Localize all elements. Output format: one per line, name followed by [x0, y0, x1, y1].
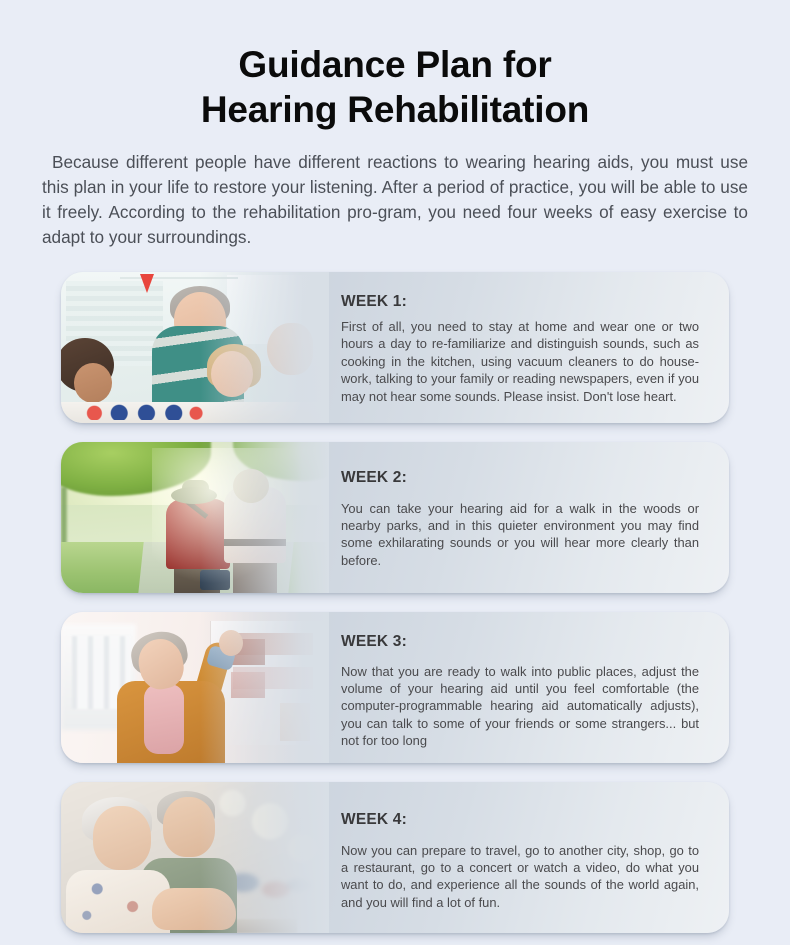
red-pennant-icon	[140, 274, 154, 293]
photo-illustration-park-walk	[61, 442, 329, 593]
photo-illustration-elderly-couple	[61, 782, 329, 933]
week-2-text: You can take your hearing aid for a walk…	[341, 500, 699, 569]
intro-paragraph: Because different people have different …	[42, 150, 748, 250]
week-3-label: WEEK 3:	[341, 633, 699, 651]
week-card-list: WEEK 1: First of all, you need to stay a…	[0, 272, 790, 933]
week-3-text: Now that you are ready to walk into publ…	[341, 663, 699, 749]
week-2-label: WEEK 2:	[341, 469, 699, 487]
week-1-body: WEEK 1: First of all, you need to stay a…	[329, 272, 729, 423]
intro-text: Because different people have different …	[42, 152, 748, 247]
week-card-3[interactable]: WEEK 3: Now that you are ready to walk i…	[61, 612, 729, 763]
week-4-body: WEEK 4: Now you can prepare to travel, g…	[329, 782, 729, 933]
week-1-text: First of all, you need to stay at home a…	[341, 318, 699, 405]
week-4-label: WEEK 4:	[341, 811, 699, 829]
week-2-body: WEEK 2: You can take your hearing aid fo…	[329, 442, 729, 593]
week-card-2[interactable]: WEEK 2: You can take your hearing aid fo…	[61, 442, 729, 593]
page-title: Guidance Plan for Hearing Rehabilitation	[0, 42, 790, 132]
week-4-text: Now you can prepare to travel, go to ano…	[341, 842, 699, 911]
week-1-photo	[61, 272, 329, 423]
photo-illustration-grandmother-kids	[61, 272, 329, 423]
page-header: Guidance Plan for Hearing Rehabilitation	[0, 0, 790, 132]
week-3-body: WEEK 3: Now that you are ready to walk i…	[329, 612, 729, 763]
photo-illustration-shop-reaching	[61, 612, 329, 763]
week-2-photo	[61, 442, 329, 593]
page-title-line-1: Guidance Plan for	[0, 42, 790, 87]
week-card-4[interactable]: WEEK 4: Now you can prepare to travel, g…	[61, 782, 729, 933]
week-1-label: WEEK 1:	[341, 293, 699, 311]
week-3-photo	[61, 612, 329, 763]
week-4-photo	[61, 782, 329, 933]
week-card-1[interactable]: WEEK 1: First of all, you need to stay a…	[61, 272, 729, 423]
page-title-line-2: Hearing Rehabilitation	[0, 87, 790, 132]
